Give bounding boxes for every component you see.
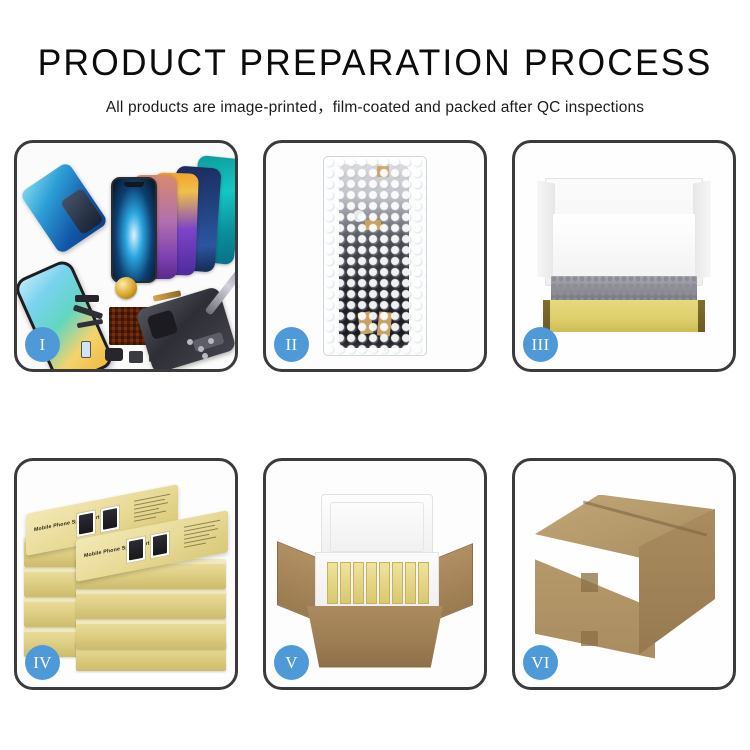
screws-icon [187, 337, 217, 357]
component-chip-icon [75, 295, 99, 302]
process-step-grid: I II [14, 140, 736, 690]
step-badge-4: IV [25, 645, 60, 680]
page-title: PRODUCT PREPARATION PROCESS [15, 44, 735, 81]
open-carton-icon [275, 488, 475, 670]
process-step-panel-3[interactable]: III [512, 140, 736, 372]
process-step-panel-5[interactable]: V [263, 458, 487, 690]
page-subtitle: All products are image-printed，film-coat… [0, 95, 750, 117]
box-window-icon [126, 535, 146, 564]
box-layer [76, 619, 226, 649]
open-yellow-box-icon [531, 170, 717, 342]
process-step-panel-2[interactable]: II [263, 140, 487, 372]
product-preparation-infographic: PRODUCT PREPARATION PROCESS All products… [0, 0, 750, 750]
component-chip-icon [129, 351, 143, 363]
step-badge-2: II [274, 327, 309, 362]
foam-cooler-lid-icon [321, 494, 433, 560]
white-foam-sheet-icon [553, 214, 695, 276]
component-chip-icon [81, 341, 91, 358]
copper-coil-icon [115, 277, 137, 299]
phone-screen-fan [101, 155, 235, 273]
process-step-panel-6[interactable]: VI [512, 458, 736, 690]
carton-tape-patch-icon [581, 631, 598, 646]
box-window-icon [100, 505, 120, 534]
process-step-panel-4[interactable]: Mobile Phone Spare Parts Mobile Phone Sp… [14, 458, 238, 690]
carton-body-icon [307, 606, 443, 668]
step-badge-1: I [25, 327, 60, 362]
box-layer [76, 589, 226, 619]
phone-notch-icon [124, 182, 144, 187]
bubble-wrap-bag [323, 156, 427, 356]
phone-screen-black-icon [111, 177, 157, 283]
grey-foam-pad-icon [551, 276, 697, 302]
component-chip-icon [105, 348, 123, 361]
header: PRODUCT PREPARATION PROCESS All products… [0, 0, 750, 117]
bubble-wrap-texture-icon [323, 156, 427, 356]
step-badge-5: V [274, 645, 309, 680]
box-flap-right-icon [693, 180, 711, 279]
yellow-boxes-inside-icon [327, 562, 429, 604]
stacked-boxes-icon: Mobile Phone Spare Parts Mobile Phone Sp… [24, 481, 228, 667]
carton-tape-patch-icon [581, 573, 598, 592]
process-step-panel-1[interactable]: I [14, 140, 238, 372]
box-spec-lines-icon [184, 520, 220, 553]
blue-screen-film-icon [19, 161, 108, 255]
step-badge-3: III [523, 327, 558, 362]
sealed-carton-icon [529, 495, 719, 663]
box-window-icon [76, 509, 96, 538]
box-window-icon [150, 531, 170, 560]
step-badge-6: VI [523, 645, 558, 680]
box-front-panel-icon [543, 300, 705, 332]
